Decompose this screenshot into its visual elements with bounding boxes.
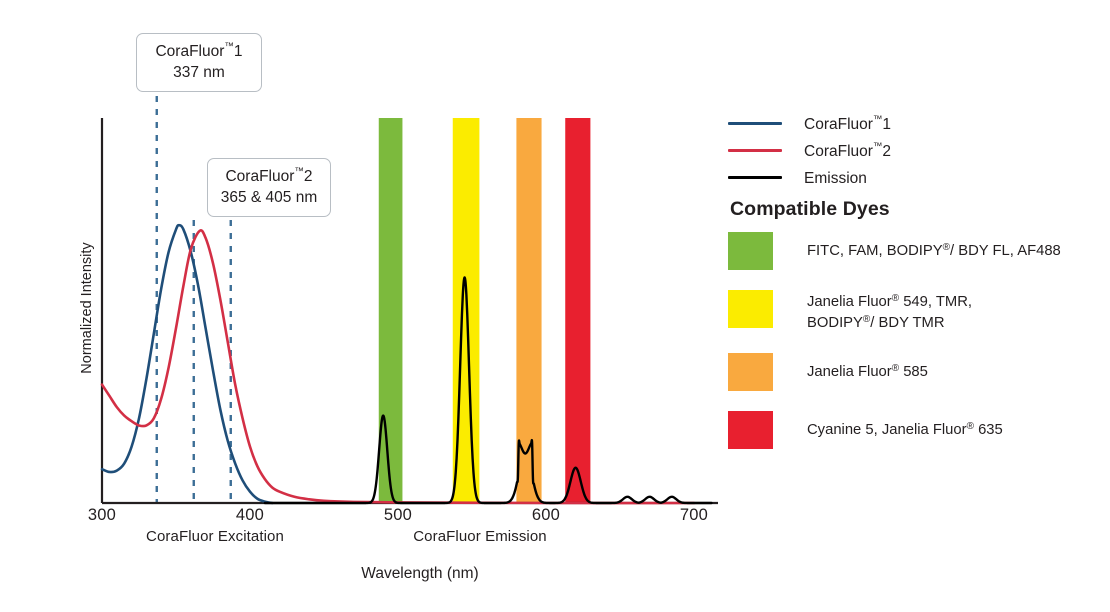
registered-icon: ®: [892, 293, 899, 304]
callout-corafluor2-name: CoraFluor: [225, 168, 294, 185]
x-tick-500: 500: [368, 506, 428, 525]
legend-item-label: CoraFluor™2: [804, 141, 891, 161]
x-axis-title: Wavelength (nm): [300, 565, 540, 583]
legend-line-swatch-icon: [728, 122, 782, 125]
dye-legend-item-2: Janelia Fluor® 585: [728, 353, 1108, 391]
compatible-dyes-title: Compatible Dyes: [730, 198, 890, 221]
x-tick-700: 700: [664, 506, 724, 525]
legend-item-label: CoraFluor™1: [804, 114, 891, 134]
dye-legend-item-1: Janelia Fluor® 549, TMR,BODIPY®/ BDY TMR: [728, 290, 1108, 333]
chart-plot-area: 300 400 500 600 700 CoraFluor Excitation…: [0, 0, 730, 612]
registered-icon: ®: [892, 363, 899, 374]
dye-color-swatch-icon: [728, 232, 773, 270]
curve-legend: CoraFluor™1CoraFluor™2Emission: [728, 110, 1058, 191]
x-tick-400: 400: [220, 506, 280, 525]
emission-curve: [265, 277, 712, 503]
callout-corafluor2-value: 365 & 405 nm: [218, 188, 320, 209]
compatible-dyes-legend: FITC, FAM, BODIPY®/ BDY FL, AF488Janelia…: [728, 232, 1108, 469]
trademark-icon: ™: [873, 114, 883, 125]
spectral-chart-figure: 300 400 500 600 700 CoraFluor Excitation…: [0, 0, 1110, 612]
dye-legend-item-label: Cyanine 5, Janelia Fluor® 635: [807, 411, 1003, 441]
registered-icon: ®: [863, 314, 870, 325]
dye-color-swatch-icon: [728, 353, 773, 391]
x-tick-600: 600: [516, 506, 576, 525]
registered-icon: ®: [943, 242, 950, 253]
callout-corafluor1-index: 1: [234, 43, 243, 60]
legend-panel: CoraFluor™1CoraFluor™2Emission Compatibl…: [728, 0, 1110, 612]
dye-legend-item-3: Cyanine 5, Janelia Fluor® 635: [728, 411, 1108, 449]
legend-line-swatch-icon: [728, 176, 782, 179]
dye-legend-item-label: FITC, FAM, BODIPY®/ BDY FL, AF488: [807, 232, 1061, 262]
legend-item-1: CoraFluor™2: [728, 137, 1058, 164]
trademark-icon: ™: [294, 166, 304, 177]
callout-corafluor1: CoraFluor™1 337 nm: [136, 33, 262, 92]
legend-line-swatch-icon: [728, 149, 782, 152]
trademark-icon: ™: [873, 141, 883, 152]
callout-corafluor2: CoraFluor™2 365 & 405 nm: [207, 158, 331, 217]
dye-band-0: [379, 118, 403, 503]
y-axis-title: Normalized Intensity: [79, 208, 95, 408]
legend-item-label: Emission: [804, 168, 867, 188]
legend-item-2: Emission: [728, 164, 1058, 191]
dye-color-swatch-icon: [728, 411, 773, 449]
x-tick-300: 300: [72, 506, 132, 525]
trademark-icon: ™: [224, 41, 234, 52]
dye-legend-item-0: FITC, FAM, BODIPY®/ BDY FL, AF488: [728, 232, 1108, 270]
legend-item-0: CoraFluor™1: [728, 110, 1058, 137]
dye-band-3: [565, 118, 590, 503]
dye-color-swatch-icon: [728, 290, 773, 328]
dye-legend-item-label: Janelia Fluor® 585: [807, 353, 928, 383]
callout-corafluor1-value: 337 nm: [147, 63, 251, 84]
callout-corafluor1-name: CoraFluor: [155, 43, 224, 60]
emission-region-label: CoraFluor Emission: [405, 528, 555, 545]
dye-legend-item-label: Janelia Fluor® 549, TMR,BODIPY®/ BDY TMR: [807, 290, 972, 333]
dye-band-rects: [379, 118, 591, 503]
callout-corafluor2-index: 2: [304, 168, 313, 185]
registered-icon: ®: [967, 421, 974, 432]
excitation-region-label: CoraFluor Excitation: [135, 528, 295, 545]
